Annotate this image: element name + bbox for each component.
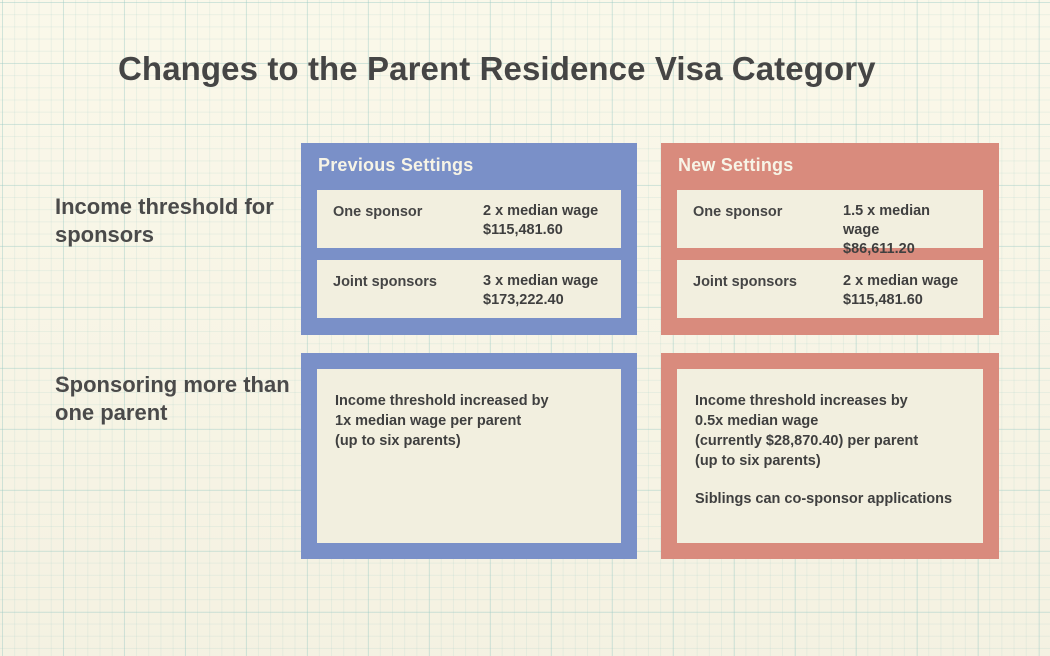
- row-value: 2 x median wage $115,481.60: [843, 272, 969, 310]
- detail-paragraph: Income threshold increases by 0.5x media…: [695, 391, 969, 471]
- panel-new-settings-income: New Settings One sponsor 1.5 x median wa…: [661, 143, 999, 335]
- table-row: One sponsor 2 x median wage $115,481.60: [317, 190, 621, 248]
- detail-card: Income threshold increased by 1x median …: [317, 369, 621, 543]
- panel-previous-settings-income: Previous Settings One sponsor 2 x median…: [301, 143, 637, 335]
- row-term: One sponsor: [693, 202, 843, 221]
- row-value: 1.5 x median wage $86,611.20: [843, 202, 969, 259]
- row-term: One sponsor: [333, 202, 483, 221]
- detail-paragraph-secondary: Siblings can co-sponsor applications: [695, 489, 969, 509]
- row-term: Joint sponsors: [333, 272, 483, 291]
- detail-paragraph: Income threshold increased by 1x median …: [335, 391, 607, 451]
- panel-header-previous-settings: Previous Settings: [318, 155, 473, 176]
- page-title: Changes to the Parent Residence Visa Cat…: [118, 50, 998, 88]
- panel-new-settings-multiple-parents: Income threshold increases by 0.5x media…: [661, 353, 999, 559]
- table-row: Joint sponsors 2 x median wage $115,481.…: [677, 260, 983, 318]
- infographic-canvas: Changes to the Parent Residence Visa Cat…: [0, 0, 1050, 656]
- table-row: Joint sponsors 3 x median wage $173,222.…: [317, 260, 621, 318]
- row-label-income-threshold: Income threshold for sponsors: [55, 193, 300, 249]
- row-label-sponsoring-more-than-one-parent: Sponsoring more than one parent: [55, 371, 300, 427]
- table-row: One sponsor 1.5 x median wage $86,611.20: [677, 190, 983, 248]
- panel-header-new-settings: New Settings: [678, 155, 793, 176]
- row-value: 3 x median wage $173,222.40: [483, 272, 607, 310]
- detail-card: Income threshold increases by 0.5x media…: [677, 369, 983, 543]
- panel-previous-settings-multiple-parents: Income threshold increased by 1x median …: [301, 353, 637, 559]
- row-value: 2 x median wage $115,481.60: [483, 202, 607, 240]
- row-term: Joint sponsors: [693, 272, 843, 291]
